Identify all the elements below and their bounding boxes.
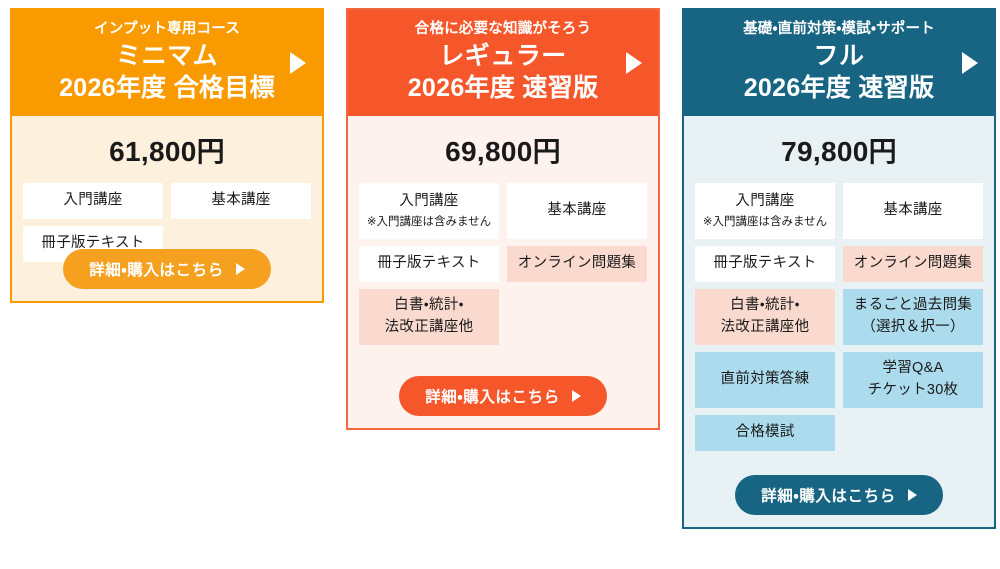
card-body-regular: 69,800円入門講座※入門講座は含みません基本講座冊子版テキストオンライン問題… xyxy=(348,116,658,428)
feature-tile-label: 合格模試 xyxy=(735,422,794,444)
feature-tile-note: ※入門講座は含みません xyxy=(367,214,491,231)
feature-tile: 基本講座 xyxy=(843,183,983,239)
feature-tile: 入門講座※入門講座は含みません xyxy=(695,183,835,239)
card-price: 69,800円 xyxy=(359,116,647,183)
detail-purchase-button-label: 詳細・購入はこちら xyxy=(89,258,224,280)
feature-tile-label: 入門講座 xyxy=(63,190,122,212)
feature-tile: 冊子版テキスト xyxy=(695,246,835,282)
triangle-right-icon xyxy=(626,52,642,74)
card-body-full: 79,800円入門講座※入門講座は含みません基本講座冊子版テキストオンライン問題… xyxy=(684,116,994,527)
feature-tile-label: 基本講座 xyxy=(211,190,270,212)
feature-tile: 学習Q&Aチケット30枚 xyxy=(843,352,983,408)
feature-tile: 基本講座 xyxy=(171,183,311,219)
pricing-card-minimum: インプット専用コースミニマム2026年度 合格目標61,800円入門講座基本講座… xyxy=(10,8,324,303)
detail-purchase-button-label: 詳細・購入はこちら xyxy=(425,385,560,407)
feature-tile-label: 冊子版テキスト xyxy=(713,253,816,275)
card-body-minimum: 61,800円入門講座基本講座冊子版テキスト詳細・購入はこちら xyxy=(12,116,322,301)
feature-tile-label: 法改正講座他 xyxy=(385,317,474,339)
feature-tile-label: 白書・統計・ xyxy=(394,295,464,317)
triangle-right-icon xyxy=(908,489,917,501)
triangle-right-icon xyxy=(236,263,245,275)
detail-purchase-button-label: 詳細・購入はこちら xyxy=(761,484,896,506)
feature-tile-label: 入門講座 xyxy=(735,191,794,213)
feature-tile-grid: 入門講座※入門講座は含みません基本講座冊子版テキストオンライン問題集白書・統計・… xyxy=(695,183,983,451)
feature-tile-label: まるごと過去問集 xyxy=(854,295,972,317)
feature-tile-label: チケット30枚 xyxy=(868,380,959,402)
feature-tile: 基本講座 xyxy=(507,183,647,239)
card-title: フル xyxy=(694,40,984,72)
feature-tile-label: 直前対策答練 xyxy=(721,369,810,391)
feature-tile-grid: 入門講座※入門講座は含みません基本講座冊子版テキストオンライン問題集白書・統計・… xyxy=(359,183,647,345)
triangle-right-icon xyxy=(290,52,306,74)
feature-tile-label: 基本講座 xyxy=(547,200,606,222)
feature-tile: 白書・統計・法改正講座他 xyxy=(695,289,835,345)
feature-tile: 白書・統計・法改正講座他 xyxy=(359,289,499,345)
card-subtitle: インプット専用コース xyxy=(22,19,312,40)
feature-tile: オンライン問題集 xyxy=(843,246,983,282)
card-header-minimum: インプット専用コースミニマム2026年度 合格目標 xyxy=(12,10,322,116)
feature-tile-label: 基本講座 xyxy=(883,200,942,222)
pricing-card-regular: 合格に必要な知識がそろうレギュラー2026年度 速習版69,800円入門講座※入… xyxy=(346,8,660,430)
feature-tile: 直前対策答練 xyxy=(695,352,835,408)
detail-purchase-button-minimum[interactable]: 詳細・購入はこちら xyxy=(63,249,271,289)
feature-tile-label: 法改正講座他 xyxy=(721,317,810,339)
triangle-right-icon xyxy=(572,390,581,402)
feature-tile: 冊子版テキスト xyxy=(359,246,499,282)
feature-tile: オンライン問題集 xyxy=(507,246,647,282)
feature-tile-label: （選択＆択一） xyxy=(861,317,965,339)
pricing-card-full: 基礎・直前対策・模試・サポートフル2026年度 速習版79,800円入門講座※入… xyxy=(682,8,996,529)
card-header-full: 基礎・直前対策・模試・サポートフル2026年度 速習版 xyxy=(684,10,994,116)
feature-tile-label: 白書・統計・ xyxy=(730,295,800,317)
card-year-label: 2026年度 合格目標 xyxy=(22,72,312,104)
feature-tile: 入門講座 xyxy=(23,183,163,219)
feature-tile-label: オンライン問題集 xyxy=(518,253,636,275)
card-header-regular: 合格に必要な知識がそろうレギュラー2026年度 速習版 xyxy=(348,10,658,116)
card-subtitle: 基礎・直前対策・模試・サポート xyxy=(694,19,984,40)
card-year-label: 2026年度 速習版 xyxy=(694,72,984,104)
card-subtitle: 合格に必要な知識がそろう xyxy=(358,19,648,40)
pricing-card-board: インプット専用コースミニマム2026年度 合格目標61,800円入門講座基本講座… xyxy=(0,0,1000,569)
detail-purchase-button-full[interactable]: 詳細・購入はこちら xyxy=(735,475,943,515)
card-title: ミニマム xyxy=(22,40,312,72)
feature-tile-note: ※入門講座は含みません xyxy=(703,214,827,231)
feature-tile-spacer xyxy=(843,415,983,451)
card-title: レギュラー xyxy=(358,40,648,72)
card-price: 79,800円 xyxy=(695,116,983,183)
feature-tile-label: 冊子版テキスト xyxy=(377,253,480,275)
triangle-right-icon xyxy=(962,52,978,74)
cta-wrap: 詳細・購入はこちら xyxy=(695,475,983,515)
feature-tile-label: 入門講座 xyxy=(399,191,458,213)
feature-tile: 入門講座※入門講座は含みません xyxy=(359,183,499,239)
feature-tile-label: オンライン問題集 xyxy=(854,253,972,275)
feature-tile-label: 学習Q&A xyxy=(882,358,943,380)
feature-tile: 合格模試 xyxy=(695,415,835,451)
feature-tile: まるごと過去問集（選択＆択一） xyxy=(843,289,983,345)
feature-tile-spacer xyxy=(507,289,647,345)
card-year-label: 2026年度 速習版 xyxy=(358,72,648,104)
detail-purchase-button-regular[interactable]: 詳細・購入はこちら xyxy=(399,376,607,416)
cta-wrap: 詳細・購入はこちら xyxy=(359,376,647,416)
card-price: 61,800円 xyxy=(23,116,311,183)
